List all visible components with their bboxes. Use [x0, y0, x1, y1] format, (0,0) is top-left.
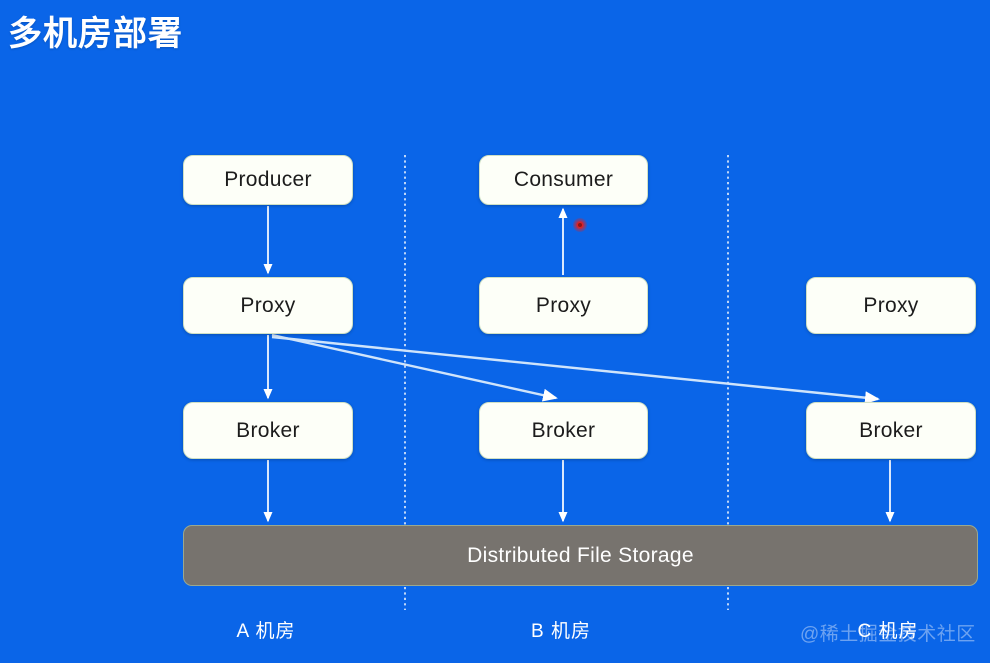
- page-title: 多机房部署: [8, 6, 183, 55]
- node-broker-a[interactable]: Broker: [183, 402, 353, 459]
- node-proxy-c[interactable]: Proxy: [806, 277, 976, 334]
- node-label: Broker: [532, 419, 596, 443]
- node-label: Proxy: [536, 294, 591, 318]
- zone-label-b: B 机房: [531, 616, 591, 643]
- node-consumer-b[interactable]: Consumer: [479, 155, 648, 205]
- node-proxy-b[interactable]: Proxy: [479, 277, 648, 334]
- watermark: @稀土掘金技术社区: [800, 619, 976, 646]
- node-proxy-a[interactable]: Proxy: [183, 277, 353, 334]
- storage-label: Distributed File Storage: [467, 544, 694, 568]
- node-label: Producer: [224, 168, 312, 192]
- node-label: Proxy: [240, 294, 295, 318]
- node-distributed-file-storage[interactable]: Distributed File Storage: [183, 525, 978, 586]
- node-label: Broker: [859, 419, 923, 443]
- slide-canvas: 多机房部署 Producer Proxy Broker Consu: [0, 0, 990, 663]
- node-label: Broker: [236, 419, 300, 443]
- node-label: Consumer: [514, 168, 613, 192]
- zone-label-a: A 机房: [237, 616, 296, 643]
- node-broker-b[interactable]: Broker: [479, 402, 648, 459]
- node-broker-c[interactable]: Broker: [806, 402, 976, 459]
- node-producer-a[interactable]: Producer: [183, 155, 353, 205]
- laser-pointer-dot: [573, 218, 587, 232]
- connection-proxy-a-to-broker-c: [272, 337, 878, 399]
- connection-proxy-a-to-broker-b: [272, 335, 556, 398]
- node-label: Proxy: [863, 294, 918, 318]
